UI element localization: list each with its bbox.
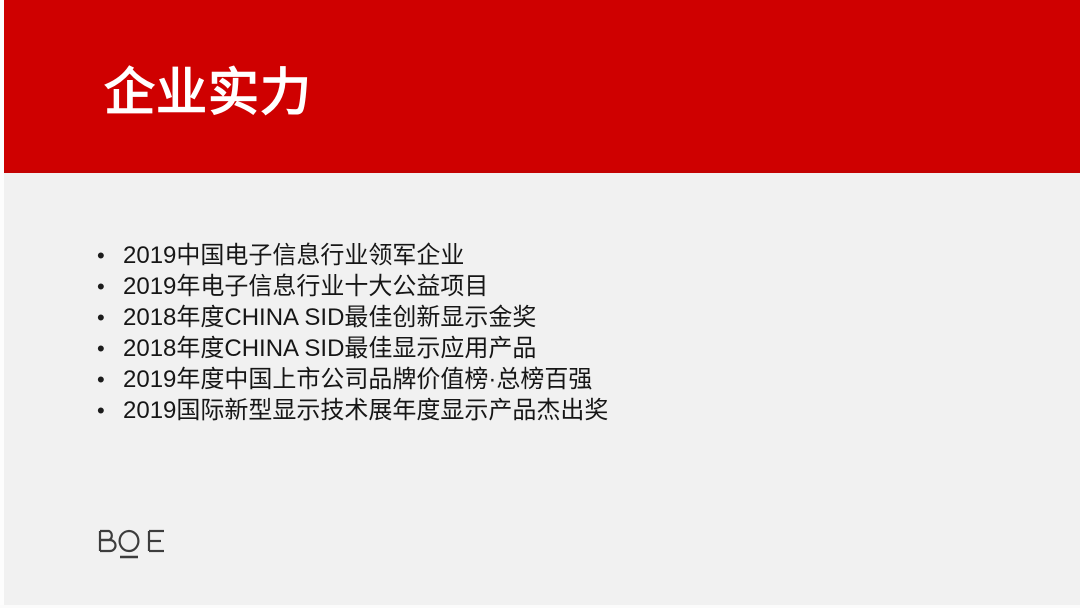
- list-item-label: 2019中国电子信息行业领军企业: [123, 240, 464, 271]
- list-item: • 2018年度CHINA SID最佳显示应用产品: [97, 333, 608, 364]
- list-item: • 2018年度CHINA SID最佳创新显示金奖: [97, 302, 608, 333]
- bullet-dot-icon: •: [97, 271, 123, 302]
- list-item-label: 2019年度中国上市公司品牌价值榜·总榜百强: [123, 364, 592, 395]
- list-item: • 2019年度中国上市公司品牌价值榜·总榜百强: [97, 364, 608, 395]
- boe-logo: [98, 529, 168, 563]
- page-title: 企业实力: [104, 62, 312, 124]
- list-item-label: 2018年度CHINA SID最佳显示应用产品: [123, 333, 536, 364]
- list-item-label: 2018年度CHINA SID最佳创新显示金奖: [123, 302, 536, 333]
- title-banner: 企业实力: [0, 0, 1080, 173]
- list-item: • 2019国际新型显示技术展年度显示产品杰出奖: [97, 395, 608, 426]
- list-item-label: 2019年电子信息行业十大公益项目: [123, 271, 488, 302]
- list-item: • 2019年电子信息行业十大公益项目: [97, 271, 608, 302]
- list-item: • 2019中国电子信息行业领军企业: [97, 240, 608, 271]
- bullet-dot-icon: •: [97, 302, 123, 333]
- banner-left-edge: [0, 0, 4, 173]
- bullet-dot-icon: •: [97, 240, 123, 271]
- list-item-label: 2019国际新型显示技术展年度显示产品杰出奖: [123, 395, 608, 426]
- bullet-dot-icon: •: [97, 364, 123, 395]
- bullet-dot-icon: •: [97, 333, 123, 364]
- achievement-list: • 2019中国电子信息行业领军企业 • 2019年电子信息行业十大公益项目 •…: [97, 240, 608, 426]
- slide: 企业实力 • 2019中国电子信息行业领军企业 • 2019年电子信息行业十大公…: [0, 0, 1080, 608]
- bullet-dot-icon: •: [97, 395, 123, 426]
